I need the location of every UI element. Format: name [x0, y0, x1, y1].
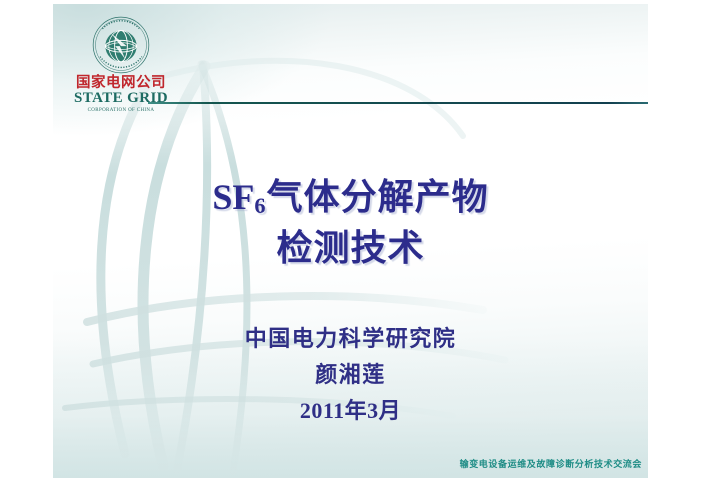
- subtitle-date: 2011年3月: [53, 393, 648, 429]
- logo-company-name-en: STATE GRID: [65, 91, 177, 107]
- title-formula-subscript: 6: [254, 193, 266, 218]
- logo-company-name-cn: 国家电网公司: [65, 76, 177, 91]
- logo-company-subtitle: CORPORATION OF CHINA: [65, 108, 177, 114]
- presentation-slide: 国家电网公司 STATE GRID CORPORATION OF CHINA S…: [0, 0, 702, 496]
- slide-subtitle: 中国电力科学研究院 颜湘莲 2011年3月: [53, 322, 648, 429]
- title-line-1-rest: 气体分解产物: [267, 177, 489, 218]
- state-grid-globe-emblem: [92, 16, 150, 74]
- subtitle-organization: 中国电力科学研究院: [53, 322, 648, 358]
- state-grid-logo: 国家电网公司 STATE GRID CORPORATION OF CHINA: [65, 16, 177, 114]
- subtitle-author: 颜湘莲: [53, 358, 648, 394]
- title-line-2: 检测技术: [53, 223, 648, 274]
- slide-title: SF6气体分解产物 检测技术: [53, 172, 648, 274]
- title-formula-prefix: SF: [212, 177, 254, 217]
- title-line-1: SF6气体分解产物: [53, 172, 648, 223]
- slide-canvas: 国家电网公司 STATE GRID CORPORATION OF CHINA S…: [53, 4, 648, 478]
- header-divider-rule: [148, 102, 648, 104]
- footer-conference-name: 输变电设备运维及故障诊断分析技术交流会: [460, 457, 642, 470]
